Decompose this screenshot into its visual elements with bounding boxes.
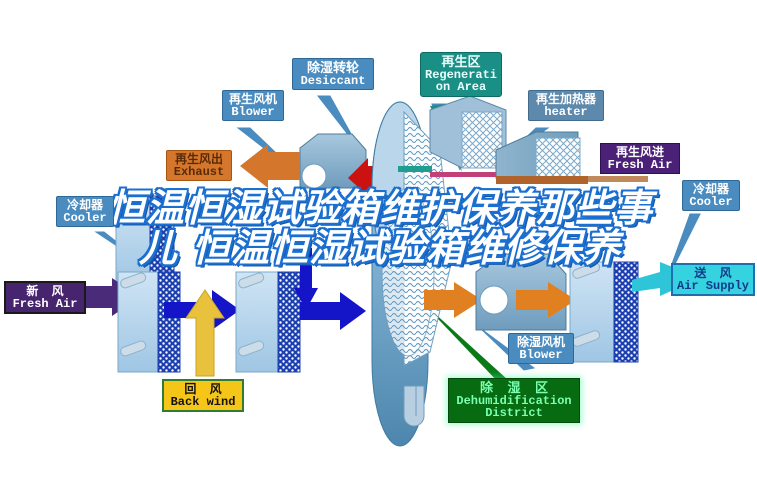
callout-air-supply-en: Air Supply [677, 280, 749, 293]
callout-regeneration-blower-cn: 再生风机 [227, 93, 279, 106]
callout-dehumidify-blower-cn: 除湿风机 [513, 336, 569, 349]
callout-back-wind-cn: 回 风 [168, 383, 238, 396]
callout-cooler-left-en: Cooler [61, 212, 109, 225]
callout-regeneration-area-en: Regenerati on Area [425, 69, 497, 94]
callout-cooler-right: 冷却器Cooler [682, 180, 740, 211]
callout-desiccant-wheel-cn: 除湿转轮 [297, 61, 369, 75]
callout-regeneration-heater: 再生加热器heater [528, 90, 604, 121]
callout-dehumidify-blower: 除湿风机Blower [508, 333, 574, 364]
callout-fresh-air-in-en: Fresh Air [10, 298, 80, 311]
callout-air-supply-cn: 送 风 [677, 267, 749, 280]
callout-cooler-right-en: Cooler [687, 196, 735, 209]
callout-back-wind: 回 风Back wind [162, 379, 244, 412]
callout-exhaust-cn: 再生风出 [171, 153, 227, 166]
callout-dehumidification-district-en: Dehumidification District [453, 395, 575, 420]
callout-desiccant-wheel: 除湿转轮Desiccant [292, 58, 374, 90]
callout-regeneration-heater-en: heater [533, 106, 599, 119]
callout-regeneration-fresh-air-in-cn: 再生风进 [605, 146, 675, 159]
callout-air-supply: 送 风Air Supply [671, 263, 755, 296]
diagram-canvas: 恒温恒湿试验箱维护保养那些事儿 恒温恒湿试验箱维修保养 xtx 除湿转轮Desi… [0, 0, 757, 488]
callout-regeneration-fresh-air-in: 再生风进Fresh Air [600, 143, 680, 174]
callout-back-wind-en: Back wind [168, 396, 238, 409]
callout-regeneration-area: 再生区Regenerati on Area [420, 52, 502, 97]
callout-regeneration-fresh-air-in-en: Fresh Air [605, 159, 675, 172]
callout-regeneration-area-cn: 再生区 [425, 55, 497, 69]
callout-regeneration-heater-cn: 再生加热器 [533, 93, 599, 106]
callout-fresh-air-in-cn: 新 风 [10, 285, 80, 298]
callout-label-layer: 除湿转轮Desiccant再生风机Blower再生区Regenerati on … [0, 0, 757, 488]
callout-exhaust-en: Exhaust [171, 166, 227, 179]
callout-dehumidification-district-cn: 除 湿 区 [453, 381, 575, 395]
callout-desiccant-wheel-en: Desiccant [297, 75, 369, 88]
callout-fresh-air-in: 新 风Fresh Air [4, 281, 86, 314]
callout-regeneration-blower: 再生风机Blower [222, 90, 284, 121]
callout-cooler-right-cn: 冷却器 [687, 183, 735, 196]
callout-cooler-left-cn: 冷却器 [61, 199, 109, 212]
callout-exhaust: 再生风出Exhaust [166, 150, 232, 181]
callout-dehumidification-district: 除 湿 区Dehumidification District [448, 378, 580, 423]
callout-dehumidify-blower-en: Blower [513, 349, 569, 362]
callout-regeneration-blower-en: Blower [227, 106, 279, 119]
callout-cooler-left: 冷却器Cooler [56, 196, 114, 227]
